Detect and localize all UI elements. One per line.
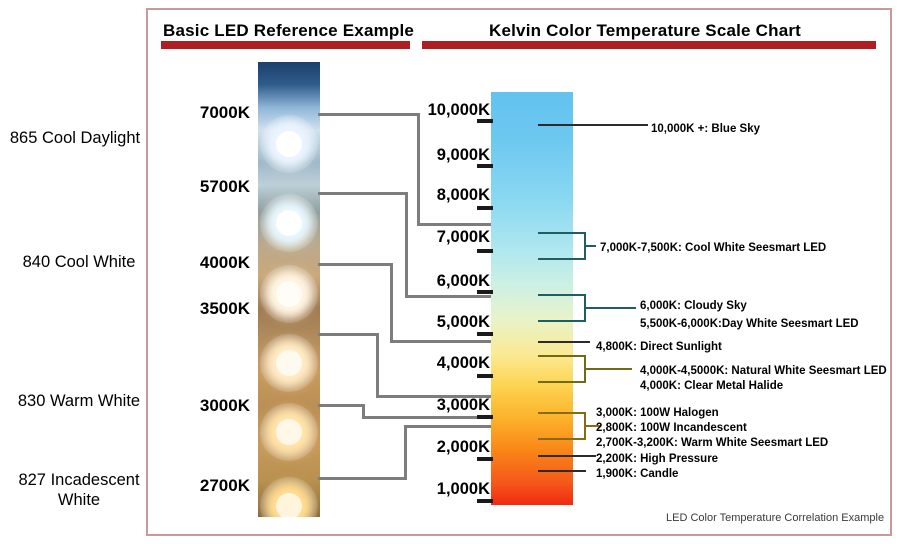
kelvin-tick-0: [477, 119, 493, 123]
kelvin-tick-7: [477, 415, 493, 419]
annotation-5: 4,000K-4,5000K: Natural White Seesmart L…: [640, 365, 887, 377]
leader-cloudy-out: [584, 307, 636, 309]
kelvin-axis-label-0: 10,000K: [428, 101, 490, 120]
connector-2-seg1: [318, 263, 390, 266]
right-panel-title: Kelvin Color Temperature Scale Chart: [489, 21, 801, 41]
annotation-4: 4,800K: Direct Sunlight: [596, 341, 722, 353]
connector-5-riser: [404, 425, 407, 480]
kelvin-tick-4: [477, 290, 493, 294]
leader-coolwhite-bot: [538, 258, 586, 260]
led-core-4: [276, 419, 302, 445]
kelvin-axis-label-9: 1,000K: [437, 480, 490, 499]
annotation-7: 3,000K: 100W Halogen: [596, 407, 719, 419]
kelvin-tick-2: [477, 206, 493, 210]
annotation-0: 10,000K +: Blue Sky: [651, 123, 760, 135]
right-title-rule: [422, 41, 876, 49]
kelvin-axis-label-3: 7,000K: [437, 228, 490, 247]
kelvin-axis-label-4: 6,000K: [437, 272, 490, 291]
kelvin-tick-1: [477, 164, 493, 168]
annotation-9: 2,700K-3,200K: Warm White Seesmart LED: [596, 437, 828, 449]
leader-warm-bot: [538, 438, 586, 440]
kelvin-tick-6: [477, 374, 493, 378]
led-core-5: [276, 493, 302, 517]
annotation-1: 7,000K-7,500K: Cool White Seesmart LED: [600, 242, 826, 254]
led-kelvin-label-1: 5700K: [178, 177, 250, 197]
annotation-3: 5,500K-6,000K:Day White Seesmart LED: [640, 318, 859, 330]
kelvin-axis-label-8: 2,000K: [437, 438, 490, 457]
led-name-label-0: 865 Cool Daylight: [0, 128, 150, 148]
connector-5-seg1: [318, 477, 404, 480]
connector-1-seg1: [318, 192, 405, 195]
led-core-3: [276, 350, 302, 376]
left-title-rule: [161, 41, 410, 49]
leader-candle: [538, 470, 586, 472]
led-glow-3: [260, 334, 318, 392]
led-name-label-2: 830 Warm White: [4, 391, 154, 411]
kelvin-tick-3: [477, 249, 493, 253]
led-core-0: [276, 131, 302, 157]
connector-4-seg1: [318, 404, 362, 407]
annotation-8: 2,800K: 100W Incandescent: [596, 422, 747, 434]
leader-cloudy-bot: [538, 320, 586, 322]
left-panel-title: Basic LED Reference Example: [163, 21, 414, 41]
led-core-1: [276, 210, 302, 236]
leader-blue-sky: [538, 124, 648, 126]
led-glow-5: [260, 477, 318, 517]
led-kelvin-label-3: 3500K: [178, 299, 250, 319]
kelvin-axis-label-6: 4,000K: [437, 354, 490, 373]
connector-0-seg1: [318, 113, 417, 116]
annotation-10: 2,200K: High Pressure: [596, 453, 718, 465]
leader-coolwhite-out: [584, 245, 596, 247]
kelvin-tick-8: [477, 457, 493, 461]
connector-2-riser: [390, 263, 393, 343]
kelvin-axis-labels: 10,000K9,000K8,000K7,000K6,000K5,000K4,0…: [418, 0, 490, 544]
led-glow-0: [260, 115, 318, 173]
annotation-11: 1,900K: Candle: [596, 468, 678, 480]
kelvin-axis-label-7: 3,000K: [437, 396, 490, 415]
leader-coolwhite-top: [538, 232, 586, 234]
kelvin-gradient-bar: [491, 92, 573, 505]
annotation-2: 6,000K: Cloudy Sky: [640, 300, 747, 312]
diagram-caption: LED Color Temperature Correlation Exampl…: [666, 512, 884, 524]
leader-warm-top: [538, 412, 586, 414]
leader-natural-bot: [538, 381, 586, 383]
kelvin-axis-label-1: 9,000K: [437, 146, 490, 165]
kelvin-tick-9: [477, 499, 493, 503]
leader-sunlight: [538, 341, 590, 343]
led-strip-photo: [258, 62, 320, 517]
leader-highpressure: [538, 455, 596, 457]
leader-cloudy-top: [538, 294, 586, 296]
led-glow-2: [260, 265, 318, 323]
led-name-label-3: 827 Incadescent White: [4, 470, 154, 510]
led-core-2: [276, 281, 302, 307]
connector-3-seg1: [318, 333, 376, 336]
led-name-label-1: 840 Cool White: [4, 252, 154, 272]
led-kelvin-label-4: 3000K: [178, 396, 250, 416]
led-glow-1: [260, 194, 318, 252]
leader-natural-top: [538, 355, 586, 357]
kelvin-tick-5: [477, 332, 493, 336]
leader-natural-out: [584, 368, 632, 370]
led-kelvin-label-2: 4000K: [178, 253, 250, 273]
led-glow-4: [260, 403, 318, 461]
kelvin-axis-label-2: 8,000K: [437, 186, 490, 205]
led-kelvin-label-0: 7000K: [178, 103, 250, 123]
annotation-6: 4,000K: Clear Metal Halide: [640, 380, 783, 392]
connector-1-riser: [405, 192, 408, 298]
connector-3-riser: [376, 333, 379, 398]
led-kelvin-label-5: 2700K: [178, 476, 250, 496]
kelvin-axis-label-5: 5,000K: [437, 313, 490, 332]
